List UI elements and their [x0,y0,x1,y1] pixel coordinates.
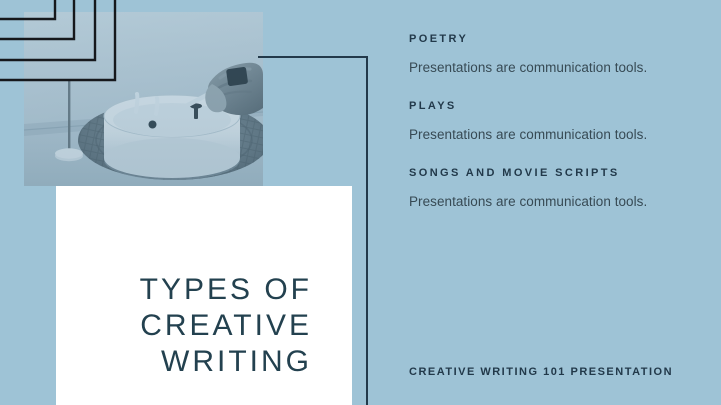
item-body-poetry: Presentations are communication tools. [409,60,694,76]
item-body-plays: Presentations are communication tools. [409,127,694,143]
item-heading-songs-and-movie-scripts: SONGS AND MOVIE SCRIPTS [409,167,694,180]
slide-canvas: TYPES OF CREATIVE WRITING POETRY Present… [0,0,721,405]
content-list: POETRY Presentations are communication t… [409,33,694,210]
list-item: PLAYS Presentations are communication to… [409,100,694,143]
item-body-songs-and-movie-scripts: Presentations are communication tools. [409,194,694,210]
list-item: POETRY Presentations are communication t… [409,33,694,76]
slide-footer: CREATIVE WRITING 101 PRESENTATION [409,366,694,379]
item-heading-poetry: POETRY [409,33,694,46]
item-heading-plays: PLAYS [409,100,694,113]
candle-photo [24,12,263,186]
page-title: TYPES OF CREATIVE WRITING [56,272,312,380]
panel-rule-vertical [366,56,368,405]
panel-rule-horizontal [258,56,368,58]
list-item: SONGS AND MOVIE SCRIPTS Presentations ar… [409,167,694,210]
candle-photo-image [24,12,263,186]
